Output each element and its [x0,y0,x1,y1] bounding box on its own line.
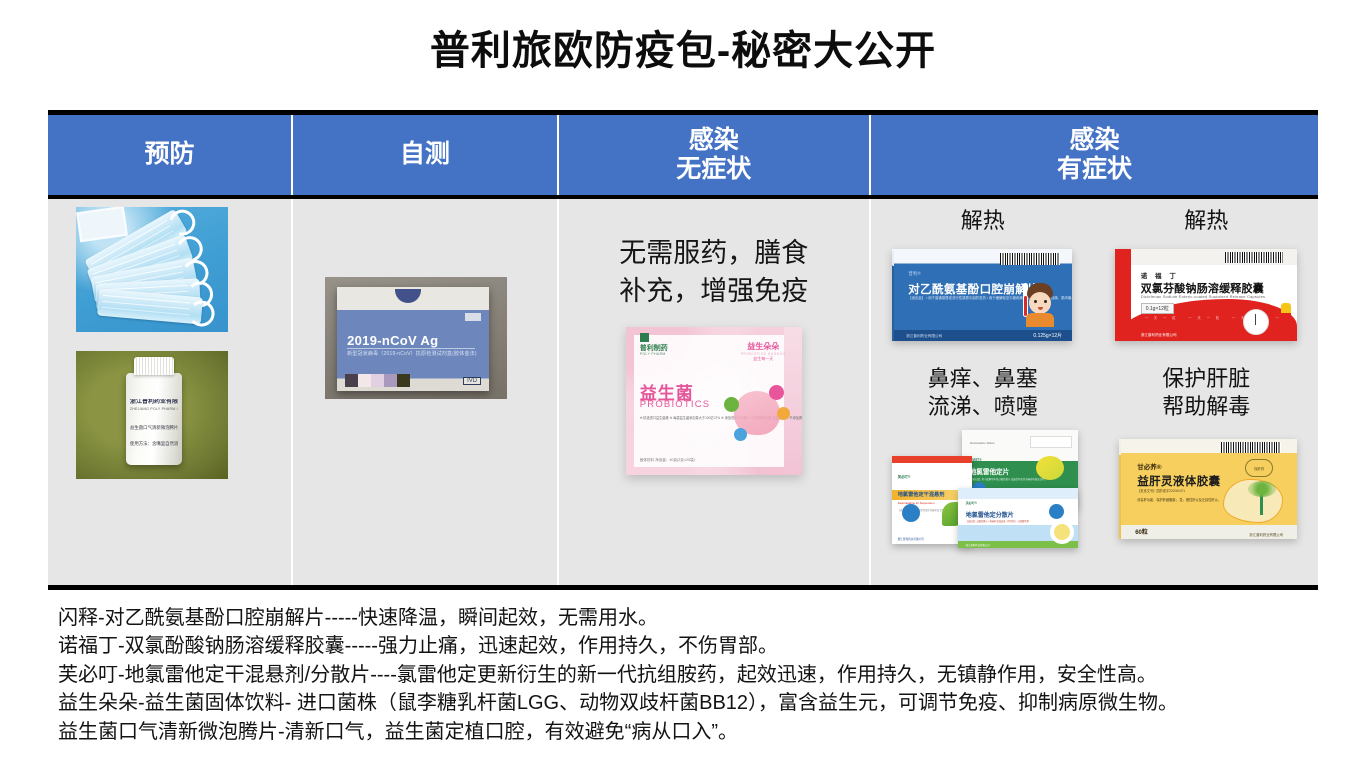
swatch [397,374,410,387]
antigen-test-kit-photo: 2019-nCoV Ag 新型冠状病毒（2019-nCoV）抗原检测试剂盒(胶体… [325,277,507,399]
bottle-company-cn: 浙江普利药业有限公司 [130,399,178,407]
kit-title: 2019-nCoV Ag [347,333,438,348]
label-nasal-symptoms: 鼻痒、鼻塞 流涕、喷嚏 [871,365,1095,420]
bottle-usage-text: 使用方法：含嘴里自然溶化 [130,441,178,447]
probiotics-name-en: PROBIOTICS [640,399,711,410]
desloratadine-suspension-company: 浙江普利药业有限公司 [898,537,924,541]
label-liver-line2: 帮助解毒 [1162,394,1250,419]
barcode-icon [1221,442,1281,453]
header-cell-prevention: 预防 [48,115,293,195]
header-cell-infected-symptomatic: 感染 有症状 [871,115,1318,195]
product-notes-list: 闪释-对乙酰氨基酚口腔崩解片-----快速降温，瞬间起效，无需用水。 诺福丁-双… [58,604,1348,746]
diclofenac-name-en: Diclofenac Sodium Enteric-coated Sustain… [1141,294,1266,299]
kit-title-rule [347,348,475,349]
antigen-test-kit-box: 2019-nCoV Ag 新型冠状病毒（2019-nCoV）抗原检测试剂盒(胶体… [337,287,489,391]
asymptomatic-advice: 无需服药，膳食 补充，增强免疫 [559,235,869,311]
paracetamol-dose: 0.125g×12片 [1033,332,1062,339]
desloratadine-suspension-name: 地氯雷他定干混悬剂 [898,491,945,498]
swatch [384,374,397,387]
quality-seal-icon [902,504,920,522]
liver-approval: 【批准文号】国药准字Z20000471 [1137,488,1185,493]
liver-capsule-product-box: 甘必荞® 益肝灵液体胶囊 【批准文号】国药准字Z20000471 改善肝功能、保… [1119,439,1297,539]
label-liver-line1: 保护肝脏 [1162,366,1250,391]
probiotics-brand-logo-icon [640,333,649,342]
page-title: 普利旅欧防疫包-秘密大公开 [0,18,1366,76]
header-label-prevention: 预防 [145,140,195,170]
diclofenac-product-box: 诺 福 丁 双氯芬酸钠肠溶缓释胶囊 Diclofenac Sodium Ente… [1115,249,1297,341]
desloratadine-tablets-label-patch [1030,436,1072,448]
desloratadine-tablets-name: 地氯雷他定片 [970,466,1010,476]
symptomatic-bottom-products: Desloratadine Tablets 芙必叮® 地氯雷他定片 【适应症】用… [871,429,1318,549]
liver-dose: 60粒 [1135,527,1148,536]
desloratadine-suspension-brand: 芙必叮® [898,474,911,479]
child-shirt [1026,313,1054,327]
surgical-masks-photo [76,207,228,332]
asymptomatic-advice-line1: 无需服药，膳食 [559,235,869,273]
symptomatic-mid-labels: 鼻痒、鼻塞 流涕、喷嚏 保护肝脏 帮助解毒 [871,365,1318,420]
gut-bubble [734,428,747,441]
cell-prevention: 浙江普利药业有限公司 ZHEJIANG POLY PHARM.CO.,LTD 益… [48,199,293,585]
label-antipyretic-right: 解热 [1094,207,1318,235]
note-line: 芙必叮-地氯雷他定干混悬剂/分散片----氯雷他定更新衍生的新一代抗组胺药，起效… [58,661,1348,689]
header-cell-self-test: 自测 [293,115,558,195]
note-line: 益生朵朵-益生菌固体饮料- 进口菌株（鼠李糖乳杆菌LGG、动物双歧杆菌BB12）… [58,689,1348,717]
label-nasal-line2: 流涕、喷嚏 [928,394,1038,419]
probiotics-product-box: 普利制药 POLY PHARM 益生菌 PROBIOTICS ※ 精选进口益生菌… [626,327,802,475]
gut-illustration-icon [726,385,788,441]
bottle-body: 浙江普利药业有限公司 ZHEJIANG POLY PHARM.CO.,LTD 益… [126,373,182,465]
note-line: 益生菌口气清新微泡腾片-清新口气，益生菌定植口腔，有效避免“病从口入”。 [58,718,1348,746]
note-line: 闪释-对乙酰氨基酚口腔崩解片-----快速降温，瞬间起效，无需用水。 [58,604,1348,632]
prevention-matrix-table: 预防 自测 感染 无症状 感染 有症状 [48,110,1318,590]
cell-self-test: 2019-nCoV Ag 新型冠状病毒（2019-nCoV）抗原检测试剂盒(胶体… [293,199,558,585]
swatch [358,374,371,387]
probiotics-footer-spec: 固体饮料 净含量：40克(2克×20袋) [640,457,695,463]
probiotics-badge-cn: 益生朵朵 [741,341,786,352]
header-cell-infected-asymptomatic: 感染 无症状 [559,115,871,195]
header-label-infected-symp-1: 感染 [1069,126,1119,154]
barcode-icon [1000,253,1060,265]
quality-seal-icon [1049,504,1064,519]
daisy-flower-icon [1054,524,1070,540]
label-nasal-line1: 鼻痒、鼻塞 [928,366,1038,391]
table-header-row: 预防 自测 感染 无症状 感染 有症状 [48,115,1318,195]
desloratadine-dispersible-company: 浙江普利药业有限公司 [966,543,990,547]
desloratadine-dispersible-name: 地氯雷他定分散片 [966,510,1014,519]
child-face [1029,292,1051,314]
child-illustration-icon [1022,283,1058,327]
dial-icon [1243,309,1269,335]
table-body-row: 浙江普利药业有限公司 ZHEJIANG POLY PHARM.CO.,LTD 益… [48,195,1318,585]
diclofenac-company: 浙江普利药业有限公司 [1141,333,1177,338]
probiotics-brand-en: POLY PHARM [640,352,666,356]
bottle-product-name: 益生菌口气清新微泡腾片 [130,425,178,431]
desloratadine-dispersible-box: 芙必叮® 地氯雷他定分散片 【适应症】过敏性鼻炎 / 荨麻疹 起效迅速 • 作用… [958,488,1078,548]
cell-infected-symptomatic: 解热 解热 普利® 对乙酰氨基酚口腔崩解片 【适应症】 • 用于普通感冒或流行性… [871,199,1318,585]
liver-medal-badge: 保肝药 [1245,459,1273,477]
note-line: 诺福丁-双氯酚酸钠肠溶缓释胶囊-----强力止痛，迅速起效，作用持久，不伤胃部。 [58,632,1348,660]
header-label-self-test: 自测 [400,140,450,170]
header-label-infected-asymp-2: 无症状 [676,155,751,183]
symptomatic-top-labels: 解热 解热 [871,207,1318,235]
bottle-cap [134,357,174,375]
tree-icon [1260,485,1263,515]
gut-bubble [777,407,790,420]
label-antipyretic-left: 解热 [871,207,1095,235]
lemon-icon [1036,456,1064,480]
gut-bubble [769,385,784,400]
bottle-company-en: ZHEJIANG POLY PHARM.CO.,LTD [130,407,178,411]
kit-box-label-patch [465,313,481,321]
barcode-icon [1225,252,1283,263]
kit-color-swatches [345,374,410,387]
swatch [345,374,358,387]
liver-box-side-flap [1119,439,1121,539]
liver-company: 浙江普利药业有限公司 [1249,532,1283,537]
diclofenac-dose: 0.1g×12粒 [1141,303,1174,314]
liver-brand: 甘必荞® [1137,461,1161,471]
desloratadine-dispersible-text: 【适应症】过敏性鼻炎 / 荨麻疹 起效迅速 • 作用持久 • 无镇静作用 [966,520,1029,524]
kit-subtitle: 新型冠状病毒（2019-nCoV）抗原检测试剂盒(胶体金法) [347,350,477,357]
probiotics-badge-sub: 益生每一天 [741,356,786,362]
gut-bubble [724,397,739,412]
paracetamol-company: 浙江普利药业有限公司 [906,334,942,339]
header-label-infected-asymp-1: 感染 [689,126,739,154]
header-label-infected-symp-2: 有症状 [1057,155,1132,183]
desloratadine-dispersible-brand: 芙必叮® [966,501,977,505]
swatch [371,374,384,387]
asymptomatic-advice-line2: 补充，增强免疫 [559,273,869,311]
probiotics-badge: 益生朵朵 PROBIOTICS DUODUO 益生每一天 [741,341,786,362]
liver-text: 改善肝功能、保护肝细胞膜； 急、慢性肝炎及迁延性肝炎。 [1137,497,1221,503]
desloratadine-product-group: Desloratadine Tablets 芙必叮® 地氯雷他定片 【适应症】用… [892,430,1078,548]
label-liver-protection: 保护肝脏 帮助解毒 [1094,365,1318,420]
cell-infected-asymptomatic: 无需服药，膳食 补充，增强免疫 普利制药 POLY PHARM 益生菌 PROB… [559,199,871,585]
desloratadine-tablets-name-en: Desloratadine Tablets [970,442,995,445]
diclofenac-brand: 诺 福 丁 [1141,270,1179,280]
effervescent-tablet-bottle-photo: 浙江普利药业有限公司 ZHEJIANG POLY PHARM.CO.,LTD 益… [76,351,228,479]
symptomatic-top-products: 普利® 对乙酰氨基酚口腔崩解片 【适应症】 • 用于普通感冒或流行性感冒引起的发… [871,237,1318,353]
paracetamol-box-side-flap [892,249,894,341]
liver-name: 益肝灵液体胶囊 [1137,473,1220,489]
paracetamol-brand: 普利® [908,271,921,277]
paracetamol-product-box: 普利® 对乙酰氨基酚口腔崩解片 【适应症】 • 用于普通感冒或流行性感冒引起的发… [892,249,1072,341]
kit-ivd-mark: IVD [463,377,481,385]
capsule-icon [1281,303,1291,323]
desloratadine-suspension-name-en: Desloratadine for Suspension [898,501,935,505]
